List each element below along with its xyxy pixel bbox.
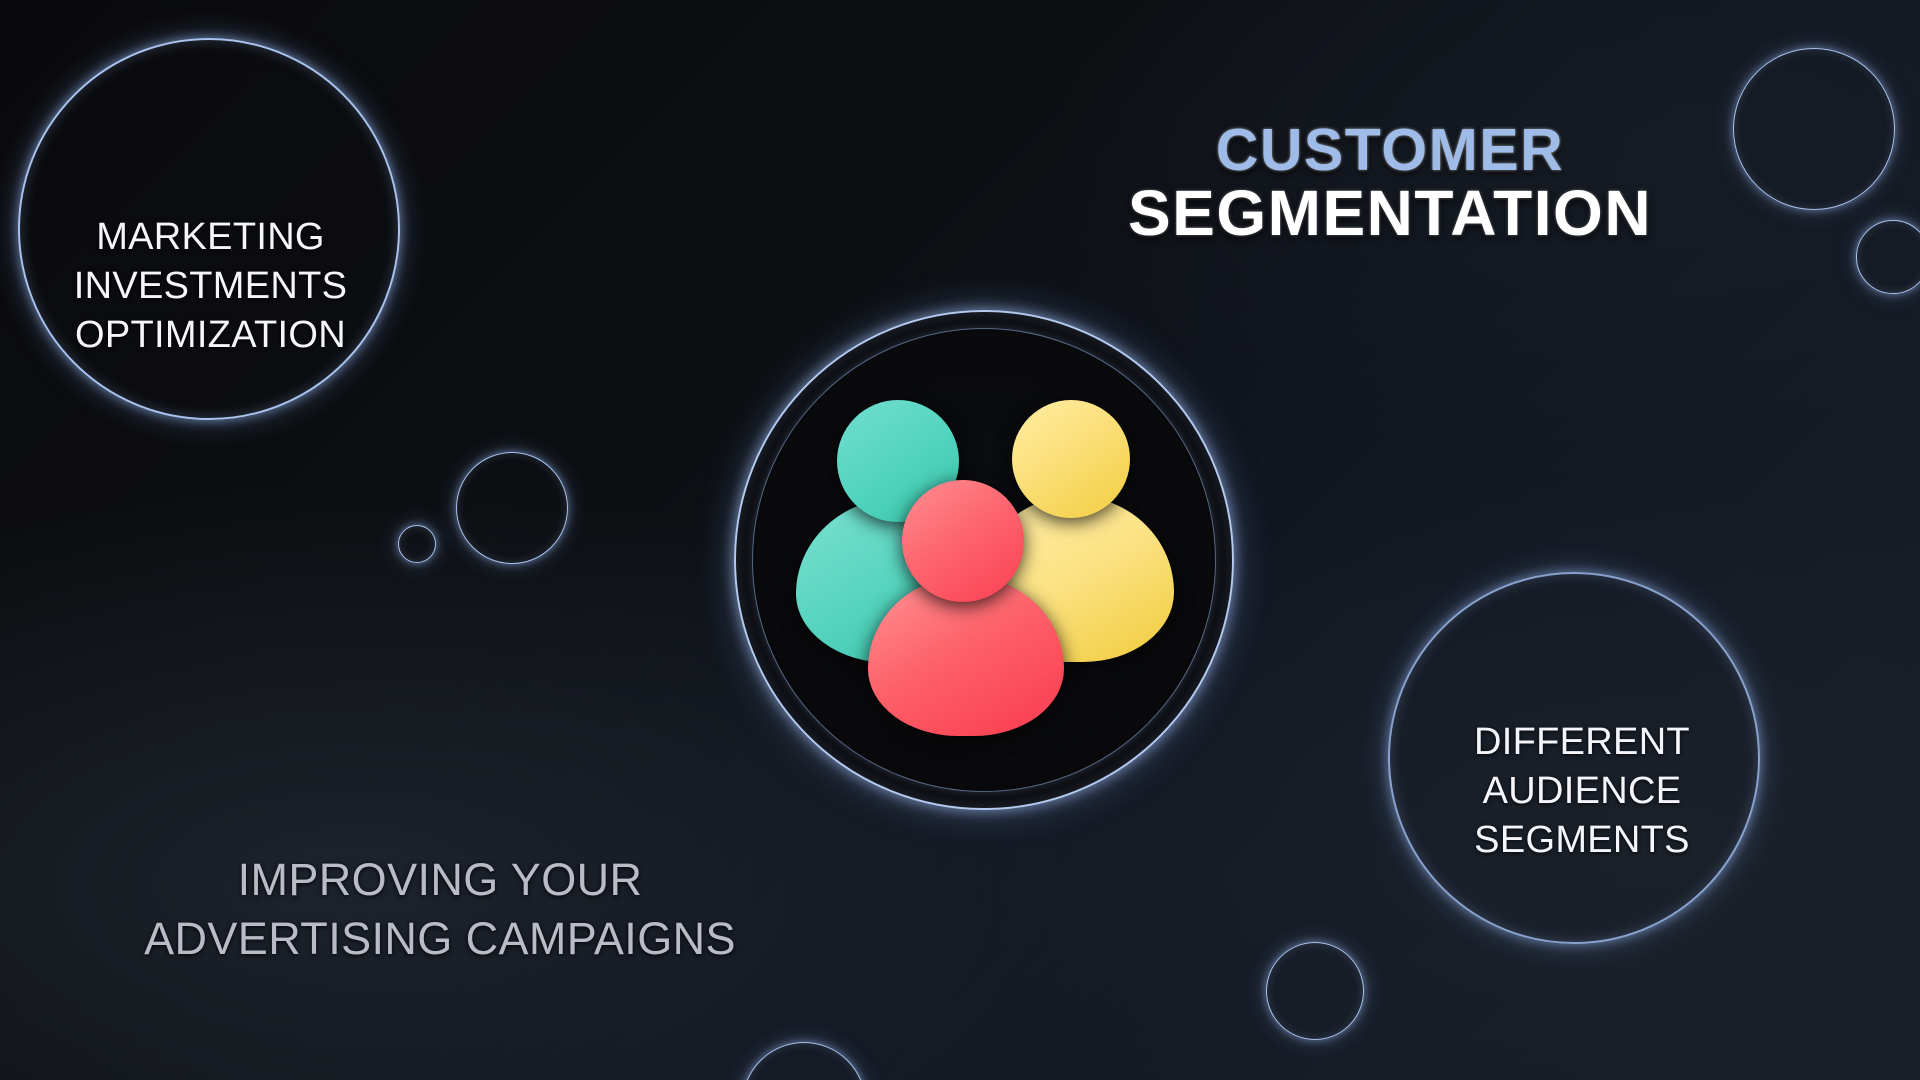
advertising-caption: IMPROVING YOUR ADVERTISING CAMPAIGNS	[80, 850, 800, 969]
marketing-line-3: OPTIMIZATION	[38, 311, 383, 360]
audience-bubble-label: DIFFERENT AUDIENCE SEGMENTS	[1447, 718, 1717, 865]
decor-ring-bottom-center	[742, 1042, 866, 1080]
marketing-bubble-label: MARKETING INVESTMENTS OPTIMIZATION	[38, 213, 383, 360]
advertising-caption-line-2: ADVERTISING CAMPAIGNS	[80, 909, 800, 968]
segment-yellow-head	[1012, 400, 1130, 518]
page-title: CUSTOMER SEGMENTATION	[1110, 120, 1670, 247]
page-title-line-1: CUSTOMER	[1110, 120, 1670, 181]
audience-line-2: AUDIENCE	[1447, 767, 1717, 816]
audience-line-1: DIFFERENT	[1447, 718, 1717, 767]
page-title-line-2: SEGMENTATION	[1110, 181, 1670, 247]
decor-ring-top-right-small	[1856, 220, 1920, 294]
marketing-line-1: MARKETING	[38, 213, 383, 262]
decor-ring-small-left	[456, 452, 568, 564]
segment-coral-head	[902, 480, 1024, 602]
decor-ring-bottom-right	[1266, 942, 1364, 1040]
people-group-icon	[790, 400, 1180, 730]
slide-canvas: CUSTOMER SEGMENTATION MARKETING INVESTME…	[0, 0, 1920, 1080]
advertising-caption-line-1: IMPROVING YOUR	[80, 850, 800, 909]
marketing-line-2: INVESTMENTS	[38, 262, 383, 311]
audience-line-3: SEGMENTS	[1447, 816, 1717, 865]
decor-ring-micro-left	[398, 525, 436, 563]
decor-ring-top-right	[1733, 48, 1895, 210]
